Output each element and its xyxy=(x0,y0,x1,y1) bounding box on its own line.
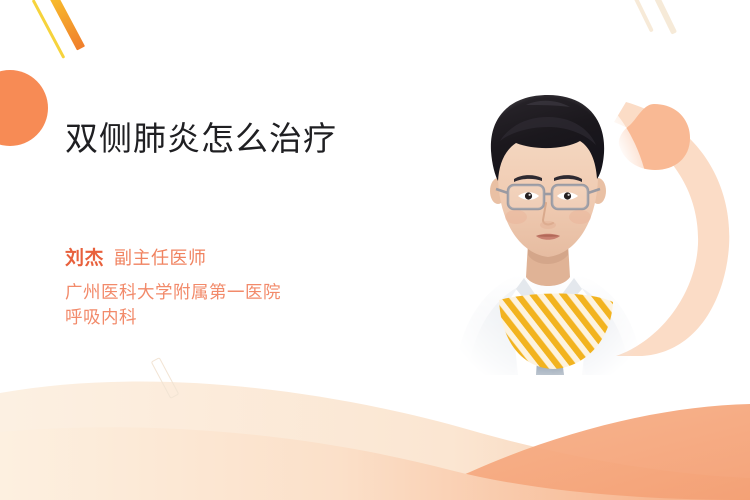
doctor-hospital: 广州医科大学附属第一医院 xyxy=(65,280,425,305)
title-block: 双侧肺炎怎么治疗 xyxy=(65,118,425,160)
diagonal-stroke-outline-icon xyxy=(151,357,180,399)
diagonal-stroke-yellow-icon xyxy=(32,0,66,59)
doctor-name-row: 刘杰副主任医师 xyxy=(65,248,425,271)
page-title: 双侧肺炎怎么治疗 xyxy=(65,118,425,160)
doctor-department: 呼吸内科 xyxy=(65,305,425,330)
doctor-portrait xyxy=(440,75,655,375)
circle-decoration xyxy=(0,70,48,146)
doctor-name: 刘杰 xyxy=(65,248,104,269)
diagonal-stroke-orange-icon xyxy=(48,0,85,50)
diagonal-stroke-tan-a-icon xyxy=(630,0,654,33)
health-content-banner: 双侧肺炎怎么治疗 刘杰副主任医师 广州医科大学附属第一医院 呼吸内科 xyxy=(0,0,750,500)
doctor-info-block: 刘杰副主任医师 广州医科大学附属第一医院 呼吸内科 xyxy=(65,248,425,331)
doctor-title: 副主任医师 xyxy=(114,248,207,268)
diagonal-stroke-tan-b-icon xyxy=(649,0,677,35)
